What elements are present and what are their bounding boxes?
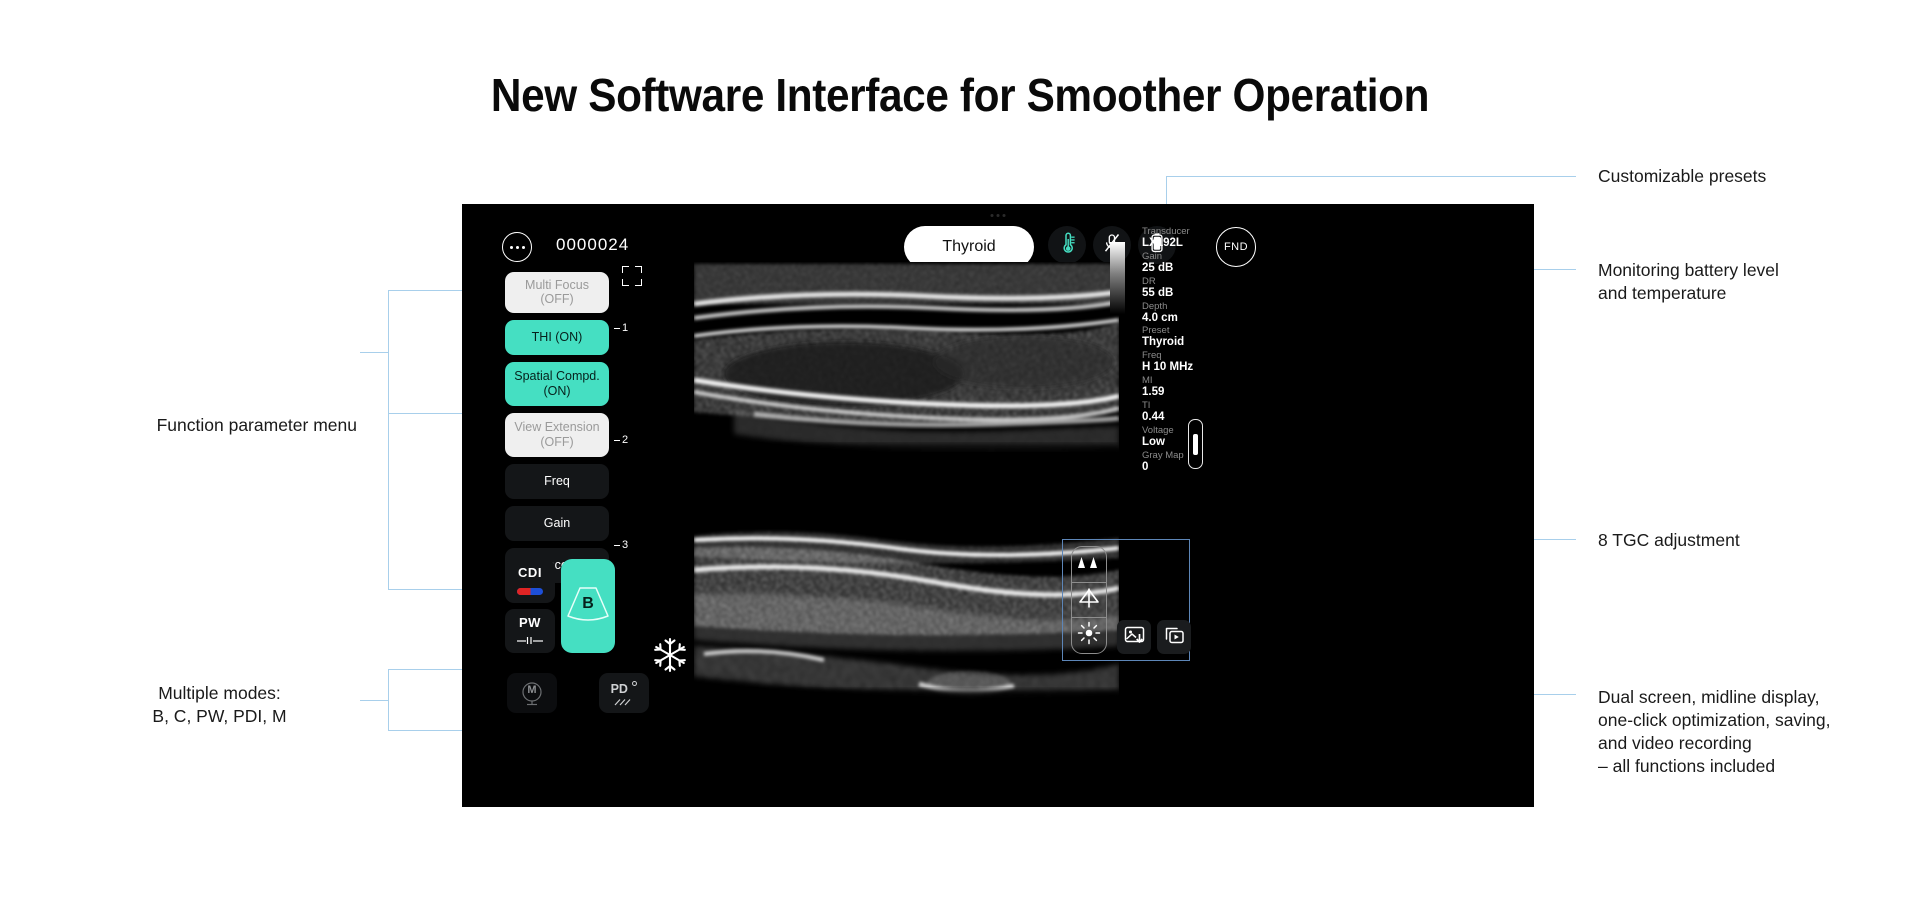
mode-button-pdi[interactable]: PD	[599, 673, 649, 713]
callout-line-fn-stem	[360, 352, 388, 353]
focus-mark-2: 2	[614, 434, 628, 446]
callout-modes-l2: B, C, PW, PDI, M	[82, 705, 357, 728]
callout-customizable-presets: Customizable presets	[1598, 165, 1766, 188]
focus-mark-1-label: 1	[622, 322, 628, 334]
tool-strip	[1071, 546, 1107, 654]
info-value-voltage: Low	[1142, 436, 1222, 449]
callout-dual-l4: – all functions included	[1598, 755, 1830, 778]
callout-line-modes-bracket	[388, 669, 389, 731]
fnd-button[interactable]: FND	[1216, 227, 1256, 267]
fn-button-freq[interactable]: Freq	[505, 464, 609, 499]
callout-line-fn-mid	[388, 413, 463, 414]
callout-monitor-l2: and temperature	[1598, 282, 1779, 305]
info-value-preset: Thyroid	[1142, 336, 1222, 349]
ultrasound-device-screen: 0000024 Thyroid	[462, 204, 1534, 807]
midline-display-icon	[1077, 587, 1101, 614]
save-image-icon	[1124, 625, 1145, 650]
ultrasound-image	[694, 262, 1119, 807]
mode-button-pw[interactable]: PW	[505, 609, 555, 653]
fn-button-gain[interactable]: Gain	[505, 506, 609, 541]
info-label-transducer: Transducer	[1142, 226, 1222, 237]
thermometer-status-chip[interactable]	[1048, 226, 1086, 264]
pdi-icon: PD	[611, 680, 638, 706]
video-record-icon	[1164, 625, 1185, 650]
fnd-label: FND	[1224, 241, 1248, 253]
info-label-ti: TI	[1142, 400, 1222, 411]
focus-mark-3-label: 3	[622, 539, 628, 551]
info-label-mi: MI	[1142, 375, 1222, 386]
mode-pw-label: PW	[519, 615, 541, 630]
info-label-graymap: Gray Map	[1142, 450, 1222, 461]
callout-dual-l2: one-click optimization, saving,	[1598, 709, 1830, 732]
info-label-preset: Preset	[1142, 325, 1222, 336]
info-value-dr: 55 dB	[1142, 287, 1222, 300]
callout-dual-l1: Dual screen, midline display,	[1598, 686, 1830, 709]
mode-cdi-label: CDI	[518, 565, 542, 580]
info-label-voltage: Voltage	[1142, 425, 1222, 436]
pdi-dot	[632, 681, 637, 686]
m-mode-icon: M	[519, 680, 545, 706]
info-value-ti: 0.44	[1142, 411, 1222, 424]
gray-map-bar	[1110, 242, 1125, 314]
mode-button-b[interactable]: B	[561, 559, 615, 653]
info-label-dr: DR	[1142, 276, 1222, 287]
callout-dual-l3: and video recording	[1598, 732, 1830, 755]
info-label-depth: Depth	[1142, 301, 1222, 312]
callout-presets-text: Customizable presets	[1598, 165, 1766, 188]
page-title: New Software Interface for Smoother Oper…	[77, 68, 1843, 122]
info-value-depth: 4.0 cm	[1142, 312, 1222, 325]
focus-mark-1: 1	[614, 322, 628, 334]
pw-waveform-icon	[517, 632, 543, 647]
tool-panel	[1062, 539, 1190, 661]
callout-line-fn-bracket	[388, 290, 389, 414]
save-image-button[interactable]	[1117, 620, 1151, 654]
callout-line-fn-bottom	[388, 589, 463, 590]
snowflake-freeze-icon	[650, 635, 690, 680]
dual-screen-button[interactable]	[1072, 547, 1106, 582]
callout-line-fn-bracket2	[388, 413, 389, 590]
pdi-label: PD	[611, 682, 628, 696]
midline-display-button[interactable]	[1072, 582, 1106, 618]
info-value-freq: H 10 MHz	[1142, 361, 1222, 374]
info-label-gain: Gain	[1142, 251, 1222, 262]
fn-button-multi-focus[interactable]: Multi Focus (OFF)	[505, 272, 609, 313]
thermometer-icon	[1057, 232, 1077, 259]
mode-button-group: CDI PW	[505, 559, 649, 713]
b-mode-label: B	[564, 595, 612, 613]
callout-monitor-l1: Monitoring battery level	[1598, 259, 1779, 282]
callout-line-presets-h	[1166, 176, 1576, 177]
callout-line-fn-top	[388, 290, 463, 291]
b-mode-sector-icon: B	[564, 586, 612, 626]
callout-multiple-modes: Multiple modes: B, C, PW, PDI, M	[82, 682, 357, 728]
callout-modes-l1: Multiple modes:	[82, 682, 357, 705]
info-label-freq: Freq	[1142, 350, 1222, 361]
cdi-colorbar-icon	[517, 583, 543, 598]
one-click-optimize-button[interactable]	[1072, 617, 1106, 653]
callout-function-parameter-menu: Function parameter menu	[82, 414, 357, 437]
focus-mark-3: 3	[614, 539, 628, 551]
callout-dual-screen: Dual screen, midline display, one-click …	[1598, 686, 1830, 778]
tgc-slider-handle[interactable]	[1188, 419, 1203, 469]
mode-button-cdi[interactable]: CDI	[505, 559, 555, 603]
patient-id-label: 0000024	[556, 235, 629, 255]
poster-root: New Software Interface for Smoother Oper…	[0, 0, 1920, 900]
callout-tgc-adjustment: 8 TGC adjustment	[1598, 529, 1740, 552]
info-value-mi: 1.59	[1142, 386, 1222, 399]
info-value-graymap: 0	[1142, 461, 1222, 474]
fn-button-thi[interactable]: THI (ON)	[505, 320, 609, 355]
callout-fn-text: Function parameter menu	[157, 415, 357, 435]
fn-button-view-extension[interactable]: View Extension (OFF)	[505, 413, 609, 457]
callout-monitoring: Monitoring battery level and temperature	[1598, 259, 1779, 305]
mode-button-m[interactable]: M	[507, 673, 557, 713]
info-value-transducer: LX192L	[1142, 237, 1222, 250]
video-record-button[interactable]	[1157, 620, 1191, 654]
focus-mark-2-label: 2	[622, 434, 628, 446]
callout-tgc-text: 8 TGC adjustment	[1598, 529, 1740, 552]
dual-screen-icon	[1076, 555, 1102, 574]
freeze-button[interactable]	[648, 635, 692, 679]
preset-pill-label: Thyroid	[942, 238, 995, 256]
expand-fullscreen-icon[interactable]	[622, 266, 642, 286]
imaging-parameters-panel: Transducer LX192L Gain 25 dB DR 55 dB De…	[1142, 226, 1222, 474]
info-value-gain: 25 dB	[1142, 262, 1222, 275]
callout-line-modes-stem	[360, 700, 388, 701]
function-parameter-menu: Multi Focus (OFF) THI (ON) Spatial Compd…	[505, 272, 609, 590]
one-click-optimize-icon	[1077, 621, 1101, 650]
m-mode-label: M	[519, 684, 545, 696]
notch-dots-indicator	[991, 214, 1006, 217]
fn-button-spatial-compound[interactable]: Spatial Compd. (ON)	[505, 362, 609, 406]
more-horizontal-icon[interactable]	[502, 232, 532, 262]
